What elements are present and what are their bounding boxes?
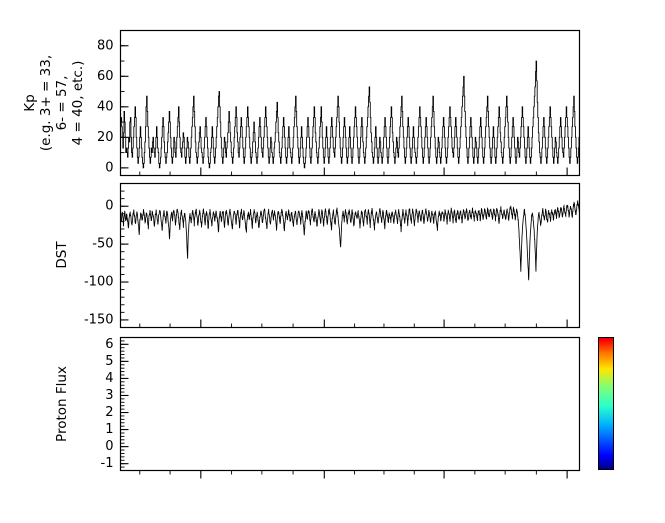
pf-yticks-label: 3 (105, 388, 113, 403)
kp-yticks-label: 40 (97, 99, 114, 114)
pf-yticks-label: -1 (101, 456, 114, 471)
space-weather-figure: Kp (e.g. 3+ = 33, 6- = 57, 4 = 40, etc.)… (0, 0, 665, 523)
dst-ylabel: DST (54, 241, 70, 269)
dst-yticks-label: 0 (105, 199, 113, 214)
kp-yticks-label: 20 (97, 130, 114, 145)
proton-flux-ylabel: Proton Flux (54, 366, 70, 442)
pf-yticks-label: 4 (105, 371, 113, 386)
colorbar-gradient (598, 337, 614, 470)
dst-yticks-label: -50 (92, 237, 113, 252)
pf-yticks-label: 6 (105, 337, 113, 352)
kp-ylabel-line-1: (e.g. 3+ = 33, (38, 55, 54, 151)
pf-yticks-label: 5 (105, 354, 113, 369)
colorbar (598, 337, 614, 470)
pf-yticks-label: 0 (105, 439, 113, 454)
kp-yticks-label: 80 (97, 38, 114, 53)
pf-yticks-label: 1 (105, 422, 113, 437)
kp-yticks-label: 60 (97, 69, 114, 84)
kp-ylabel-line-3: 4 = 40, etc.) (70, 61, 86, 146)
kp-ylabel-line-0: Kp (22, 94, 38, 111)
kp-ylabel-line-2: 6- = 57, (54, 76, 70, 131)
dst-yticks-label: -150 (84, 312, 114, 327)
dst-yticks-label: -100 (84, 275, 114, 290)
kp-yticks-label: 0 (105, 160, 113, 175)
pf-yticks-label: 2 (105, 405, 113, 420)
